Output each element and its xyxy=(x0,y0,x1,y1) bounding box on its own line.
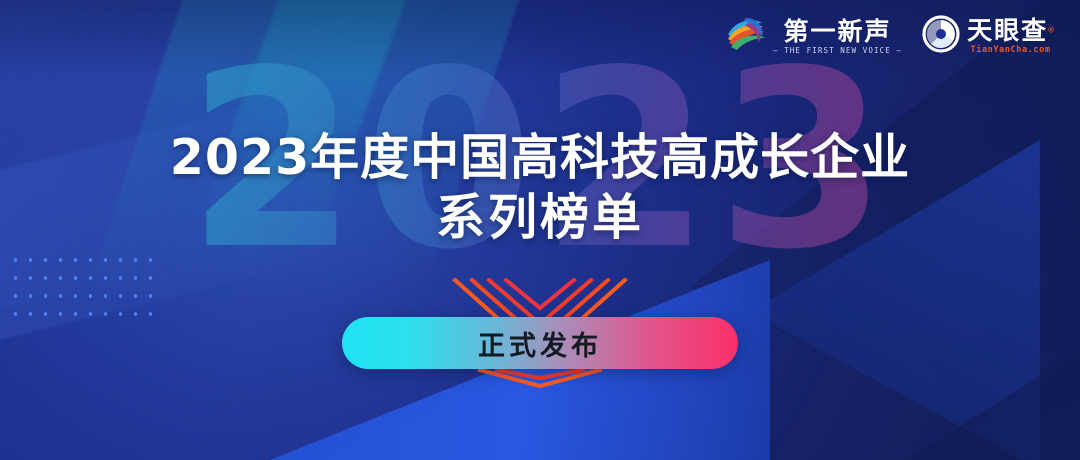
logo-diyixinsheng[interactable]: 第一新声 — THE FIRST NEW VOICE — xyxy=(724,14,902,59)
title-line-1: 2023年度中国高科技高成长企业 xyxy=(0,128,1080,188)
header-logos: 第一新声 — THE FIRST NEW VOICE — 天眼查® TianYa… xyxy=(724,14,1054,59)
logo-diyixinsheng-text: 第一新声 — THE FIRST NEW VOICE — xyxy=(773,19,902,55)
logo-tianyancha[interactable]: 天眼查® TianYanCha.com xyxy=(922,15,1054,58)
logo-tianyancha-name-en: TianYanCha.com xyxy=(971,46,1051,55)
camera-aperture-icon xyxy=(922,15,960,58)
logo-diyixinsheng-name-cn: 第一新声 xyxy=(783,19,891,44)
swirl-ribbon-icon xyxy=(724,14,766,59)
page-title: 2023年度中国高科技高成长企业 系列榜单 xyxy=(0,128,1080,248)
release-status-badge[interactable]: 正式发布 xyxy=(342,317,738,369)
logo-diyixinsheng-name-en: — THE FIRST NEW VOICE — xyxy=(773,47,902,55)
release-status-label: 正式发布 xyxy=(478,324,602,363)
promotional-banner: 2023 xyxy=(0,0,1080,460)
title-line-2: 系列榜单 xyxy=(0,188,1080,248)
logo-tianyancha-name-row: 天眼查® xyxy=(967,18,1054,43)
logo-tianyancha-text: 天眼查® TianYanCha.com xyxy=(967,18,1054,55)
logo-tianyancha-name-cn: 天眼查 xyxy=(967,16,1048,45)
registered-trademark-icon: ® xyxy=(1048,26,1054,35)
